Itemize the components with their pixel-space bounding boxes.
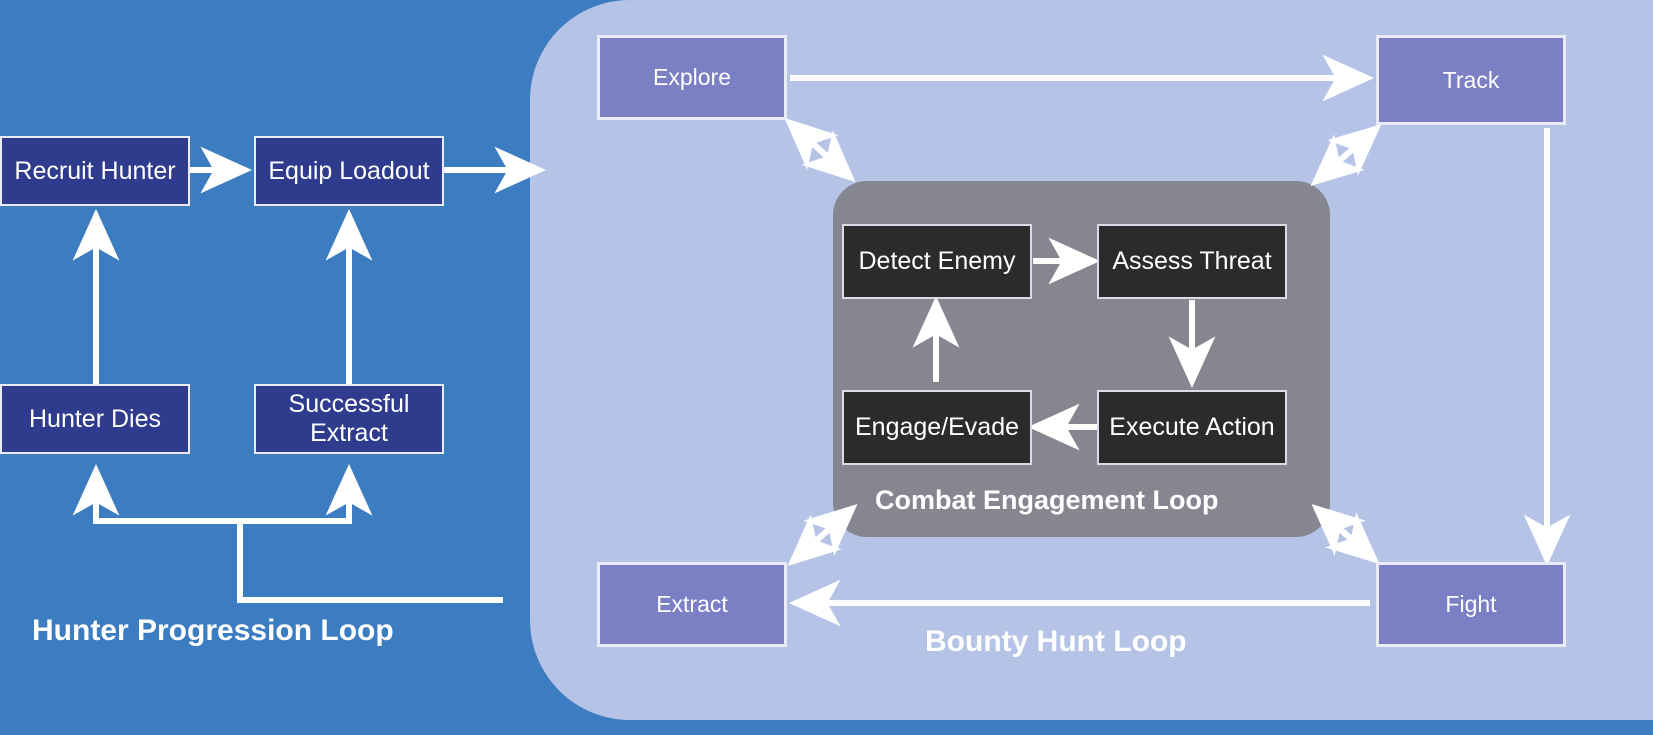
node-fight[interactable]: Fight [1376, 562, 1566, 647]
caption-combat-engagement-loop: Combat Engagement Loop [875, 485, 1219, 516]
node-execute-action[interactable]: Execute Action [1097, 390, 1287, 465]
node-successful-extract-line1: Successful [289, 390, 410, 419]
node-detect-enemy[interactable]: Detect Enemy [842, 224, 1032, 299]
diagram-canvas: Recruit Hunter Equip Loadout Hunter Dies… [0, 0, 1653, 735]
node-assess-threat[interactable]: Assess Threat [1097, 224, 1287, 299]
node-explore[interactable]: Explore [597, 35, 787, 120]
caption-hunter-progression-loop: Hunter Progression Loop [32, 614, 394, 648]
node-equip-loadout[interactable]: Equip Loadout [254, 136, 444, 206]
node-engage-evade[interactable]: Engage/Evade [842, 390, 1032, 465]
caption-bounty-hunt-loop: Bounty Hunt Loop [925, 625, 1187, 659]
node-hunter-dies[interactable]: Hunter Dies [0, 384, 190, 454]
node-recruit-hunter[interactable]: Recruit Hunter [0, 136, 190, 206]
node-track[interactable]: Track [1376, 35, 1566, 125]
node-successful-extract[interactable]: Successful Extract [254, 384, 444, 454]
node-extract[interactable]: Extract [597, 562, 787, 647]
node-successful-extract-line2: Extract [310, 419, 388, 448]
